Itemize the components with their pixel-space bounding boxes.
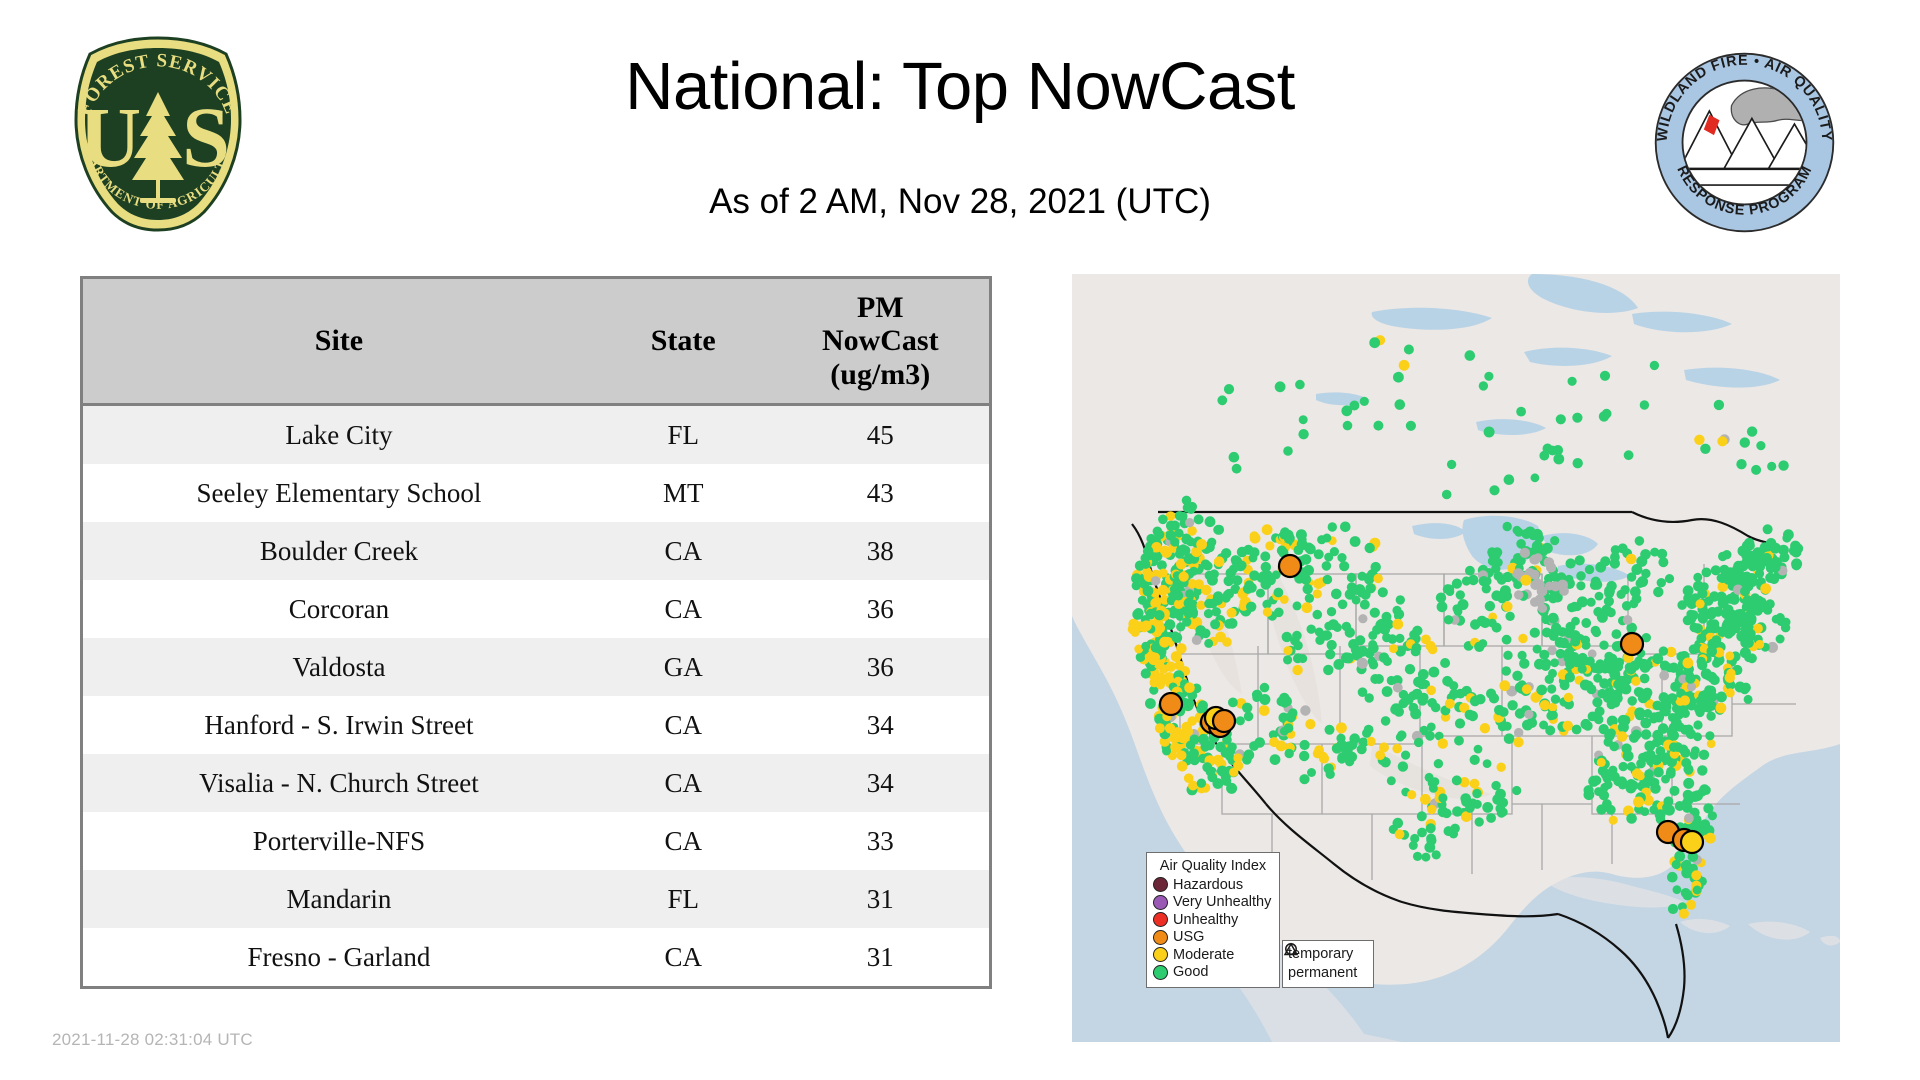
monitor-dot[interactable] (1401, 751, 1410, 760)
monitor-dot[interactable] (1202, 762, 1212, 772)
monitor-dot[interactable] (1313, 610, 1323, 620)
monitor-dot[interactable] (1584, 681, 1593, 690)
monitor-dot[interactable] (1673, 885, 1682, 894)
monitor-dot[interactable] (1283, 655, 1292, 664)
monitor-dot[interactable] (1690, 791, 1701, 802)
monitor-dot[interactable] (1597, 612, 1608, 623)
monitor-dot[interactable] (1783, 529, 1794, 540)
monitor-dot[interactable] (1396, 595, 1405, 604)
monitor-dot[interactable] (1760, 583, 1771, 594)
monitor-dot[interactable] (1653, 735, 1663, 745)
monitor-dot[interactable] (1229, 452, 1240, 463)
monitor-dot[interactable] (1274, 588, 1284, 598)
monitor-dot[interactable] (1778, 460, 1788, 470)
monitor-dot[interactable] (1483, 759, 1492, 768)
monitor-dot[interactable] (1737, 561, 1746, 570)
monitor-dot[interactable] (1693, 720, 1702, 729)
monitor-dot[interactable] (1595, 562, 1606, 573)
monitor-dot[interactable] (1514, 590, 1523, 599)
monitor-dot[interactable] (1699, 750, 1709, 760)
monitor-dot[interactable] (1653, 587, 1663, 597)
monitor-dot[interactable] (1707, 646, 1718, 657)
monitor-dot[interactable] (1442, 490, 1452, 500)
monitor-dot[interactable] (1667, 872, 1678, 883)
monitor-dot[interactable] (1522, 720, 1533, 731)
monitor-dot[interactable] (1793, 543, 1803, 553)
monitor-dot[interactable] (1691, 746, 1700, 755)
monitor-dot[interactable] (1165, 619, 1176, 630)
monitor-dot[interactable] (1213, 778, 1224, 789)
monitor-dot[interactable] (1686, 610, 1695, 619)
monitor-dot[interactable] (1718, 552, 1727, 561)
monitor-dot[interactable] (1263, 607, 1272, 616)
monitor-dot[interactable] (1591, 775, 1601, 785)
monitor-dot[interactable] (1369, 660, 1378, 669)
monitor-dot[interactable] (1685, 673, 1695, 683)
monitor-dot[interactable] (1204, 639, 1213, 648)
monitor-dot[interactable] (1323, 575, 1333, 585)
monitor-dot[interactable] (1673, 742, 1683, 752)
monitor-dot[interactable] (1668, 693, 1678, 703)
monitor-dot[interactable] (1417, 811, 1427, 821)
monitor-dot[interactable] (1572, 413, 1582, 423)
monitor-dot[interactable] (1217, 395, 1227, 405)
monitor-dot[interactable] (1513, 737, 1523, 747)
monitor-dot[interactable] (1284, 533, 1295, 544)
monitor-dot[interactable] (1447, 460, 1456, 469)
monitor-dot[interactable] (1373, 421, 1383, 431)
monitor-dot[interactable] (1307, 625, 1316, 634)
monitor-dot[interactable] (1337, 754, 1346, 763)
monitor-dot[interactable] (1266, 575, 1276, 585)
monitor-dot[interactable] (1595, 592, 1604, 601)
monitor-dot[interactable] (1305, 719, 1315, 729)
monitor-dot[interactable] (1141, 642, 1150, 651)
monitor-dot[interactable] (1393, 372, 1404, 383)
monitor-dot[interactable] (1594, 787, 1603, 796)
monitor-dot[interactable] (1340, 522, 1351, 533)
monitor-dot[interactable] (1488, 619, 1497, 628)
monitor-dot[interactable] (1659, 671, 1669, 681)
monitor-dot[interactable] (1429, 784, 1438, 793)
monitor-dot[interactable] (1660, 661, 1670, 671)
monitor-dot[interactable] (1300, 740, 1310, 750)
monitor-dot[interactable] (1304, 543, 1314, 553)
monitor-dot[interactable] (1442, 676, 1452, 686)
monitor-dot[interactable] (1516, 407, 1526, 417)
monitor-dot[interactable] (1641, 729, 1651, 739)
monitor-dot[interactable] (1747, 426, 1757, 436)
monitor-dot[interactable] (1203, 561, 1212, 570)
monitor-dot[interactable] (1417, 828, 1427, 838)
monitor-dot[interactable] (1410, 834, 1419, 843)
monitor-dot[interactable] (1181, 726, 1192, 737)
monitor-dot[interactable] (1434, 759, 1443, 768)
monitor-dot[interactable] (1751, 465, 1761, 475)
monitor-dot[interactable] (1657, 578, 1666, 587)
monitor-dot[interactable] (1214, 525, 1224, 535)
monitor-dot[interactable] (1426, 686, 1436, 696)
monitor-dot[interactable] (1633, 797, 1644, 808)
monitor-dot[interactable] (1410, 708, 1421, 719)
monitor-dot[interactable] (1548, 593, 1558, 603)
monitor-dot[interactable] (1462, 576, 1471, 585)
monitor-dot[interactable] (1131, 628, 1140, 637)
monitor-dot[interactable] (1375, 750, 1385, 760)
monitor-dot[interactable] (1145, 698, 1156, 709)
monitor-dot[interactable] (1766, 538, 1777, 549)
monitor-dot[interactable] (1362, 729, 1371, 738)
monitor-dot[interactable] (1162, 747, 1171, 756)
monitor-dot[interactable] (1612, 629, 1622, 639)
monitor-dot[interactable] (1395, 399, 1406, 410)
monitor-dot[interactable] (1285, 749, 1294, 758)
monitor-dot[interactable] (1269, 737, 1279, 747)
monitor-dot[interactable] (1379, 652, 1389, 662)
monitor-dot[interactable] (1701, 785, 1711, 795)
monitor-dot[interactable] (1503, 522, 1512, 531)
national-aqi-map[interactable]: Air Quality Index HazardousVery Unhealth… (1072, 274, 1840, 1042)
monitor-dot[interactable] (1369, 337, 1380, 348)
monitor-dot[interactable] (1670, 786, 1680, 796)
monitor-dot[interactable] (1151, 576, 1161, 586)
monitor-dot[interactable] (1716, 692, 1727, 703)
monitor-dot[interactable] (1549, 711, 1558, 720)
monitor-dot[interactable] (1282, 632, 1292, 642)
monitor-dot[interactable] (1626, 783, 1637, 794)
monitor-dot[interactable] (1620, 684, 1629, 693)
monitor-dot[interactable] (1327, 607, 1336, 616)
monitor-dot[interactable] (1187, 505, 1196, 514)
monitor-dot[interactable] (1328, 619, 1339, 630)
monitor-dot[interactable] (1710, 619, 1719, 628)
monitor-dot[interactable] (1606, 805, 1616, 815)
monitor-dot[interactable] (1154, 610, 1164, 620)
monitor-dot[interactable] (1432, 850, 1441, 859)
monitor-dot[interactable] (1286, 713, 1296, 723)
monitor-dot[interactable] (1776, 635, 1785, 644)
monitor-dot[interactable] (1470, 755, 1480, 765)
monitor-dot[interactable] (1600, 371, 1610, 381)
monitor-dot[interactable] (1762, 553, 1772, 563)
monitor-dot[interactable] (1627, 696, 1637, 706)
monitor-dot[interactable] (1246, 602, 1256, 612)
monitor-dot[interactable] (1184, 773, 1194, 783)
monitor-dot[interactable] (1682, 860, 1691, 869)
monitor-dot[interactable] (1436, 593, 1446, 603)
monitor-dot[interactable] (1512, 786, 1521, 795)
monitor-dot[interactable] (1479, 381, 1488, 390)
monitor-dot[interactable] (1454, 736, 1464, 746)
monitor-dot[interactable] (1518, 634, 1527, 643)
monitor-dot[interactable] (1259, 705, 1270, 716)
monitor-dot[interactable] (1396, 733, 1405, 742)
monitor-dot[interactable] (1550, 536, 1559, 545)
monitor-dot[interactable] (1299, 751, 1309, 761)
monitor-dot[interactable] (1210, 619, 1220, 629)
monitor-dot[interactable] (1575, 555, 1585, 565)
monitor-dot[interactable] (1744, 538, 1755, 549)
monitor-dot[interactable] (1723, 575, 1733, 585)
monitor-dot[interactable] (1321, 630, 1331, 640)
monitor-dot[interactable] (1407, 790, 1416, 799)
monitor-dot[interactable] (1295, 380, 1305, 390)
monitor-dot[interactable] (1607, 728, 1616, 737)
monitor-dot[interactable] (1704, 672, 1713, 681)
monitor-dot[interactable] (1706, 712, 1715, 721)
monitor-dot[interactable] (1719, 565, 1729, 575)
monitor-dot[interactable] (1639, 659, 1650, 670)
monitor-dot[interactable] (1494, 571, 1503, 580)
monitor-dot[interactable] (1382, 686, 1393, 697)
monitor-dot[interactable] (1159, 664, 1168, 673)
monitor-dot[interactable] (1641, 691, 1651, 701)
monitor-dot[interactable] (1744, 695, 1753, 704)
top-site-marker[interactable] (1621, 633, 1643, 655)
monitor-dot[interactable] (1398, 761, 1408, 771)
monitor-dot[interactable] (1666, 767, 1676, 777)
monitor-dot[interactable] (1740, 586, 1750, 596)
monitor-dot[interactable] (1156, 680, 1165, 689)
monitor-dot[interactable] (1627, 572, 1636, 581)
monitor-dot[interactable] (1564, 654, 1573, 663)
monitor-dot[interactable] (1629, 599, 1638, 608)
monitor-dot[interactable] (1237, 561, 1246, 570)
monitor-dot[interactable] (1636, 759, 1646, 769)
monitor-dot[interactable] (1782, 618, 1791, 627)
monitor-dot[interactable] (1694, 435, 1704, 445)
monitor-dot[interactable] (1581, 719, 1592, 730)
monitor-dot[interactable] (1504, 474, 1515, 485)
monitor-dot[interactable] (1425, 773, 1434, 782)
monitor-dot[interactable] (1474, 745, 1483, 754)
monitor-dot[interactable] (1472, 789, 1481, 798)
monitor-dot[interactable] (1630, 586, 1641, 597)
monitor-dot[interactable] (1217, 766, 1228, 777)
monitor-dot[interactable] (1714, 400, 1724, 410)
monitor-dot[interactable] (1702, 568, 1712, 578)
monitor-dot[interactable] (1132, 581, 1141, 590)
monitor-dot[interactable] (1188, 607, 1198, 617)
monitor-dot[interactable] (1497, 763, 1506, 772)
monitor-dot[interactable] (1683, 778, 1694, 789)
monitor-dot[interactable] (1425, 731, 1435, 741)
monitor-dot[interactable] (1502, 635, 1512, 645)
monitor-dot[interactable] (1725, 651, 1734, 660)
monitor-dot[interactable] (1337, 741, 1347, 751)
monitor-dot[interactable] (1545, 725, 1555, 735)
monitor-dot[interactable] (1345, 627, 1355, 637)
monitor-dot[interactable] (1650, 361, 1659, 370)
monitor-dot[interactable] (1138, 596, 1147, 605)
monitor-dot[interactable] (1507, 700, 1517, 710)
monitor-dot[interactable] (1518, 651, 1527, 660)
monitor-dot[interactable] (1336, 722, 1347, 733)
monitor-dot[interactable] (1484, 427, 1495, 438)
monitor-dot[interactable] (1539, 451, 1549, 461)
monitor-dot[interactable] (1438, 738, 1448, 748)
monitor-dot[interactable] (1280, 727, 1289, 736)
monitor-dot[interactable] (1520, 548, 1530, 558)
monitor-dot[interactable] (1213, 595, 1224, 606)
monitor-dot[interactable] (1489, 485, 1499, 495)
monitor-dot[interactable] (1357, 658, 1368, 669)
monitor-dot[interactable] (1224, 384, 1234, 394)
monitor-dot[interactable] (1594, 664, 1604, 674)
monitor-dot[interactable] (1141, 668, 1151, 678)
monitor-dot[interactable] (1535, 595, 1545, 605)
monitor-dot[interactable] (1631, 730, 1641, 740)
monitor-dot[interactable] (1357, 589, 1366, 598)
monitor-dot[interactable] (1181, 534, 1192, 545)
monitor-dot[interactable] (1420, 794, 1431, 805)
monitor-dot[interactable] (1635, 536, 1645, 546)
monitor-dot[interactable] (1711, 565, 1721, 575)
monitor-dot[interactable] (1763, 524, 1773, 534)
monitor-dot[interactable] (1132, 609, 1143, 620)
monitor-dot[interactable] (1303, 584, 1313, 594)
monitor-dot[interactable] (1624, 450, 1634, 460)
monitor-dot[interactable] (1184, 698, 1195, 709)
monitor-dot[interactable] (1519, 658, 1529, 668)
monitor-dot[interactable] (1598, 689, 1608, 699)
monitor-dot[interactable] (1437, 601, 1448, 612)
monitor-dot[interactable] (1653, 701, 1663, 711)
monitor-dot[interactable] (1337, 553, 1346, 562)
monitor-dot[interactable] (1503, 651, 1512, 660)
monitor-dot[interactable] (1640, 674, 1650, 684)
monitor-dot[interactable] (1689, 644, 1699, 654)
monitor-dot[interactable] (1501, 666, 1511, 676)
monitor-dot[interactable] (1570, 637, 1580, 647)
monitor-dot[interactable] (1185, 589, 1194, 598)
monitor-dot[interactable] (1591, 626, 1601, 636)
monitor-dot[interactable] (1293, 654, 1302, 663)
monitor-dot[interactable] (1610, 772, 1620, 782)
monitor-dot[interactable] (1537, 685, 1548, 696)
monitor-dot[interactable] (1455, 718, 1465, 728)
monitor-dot[interactable] (1514, 728, 1523, 737)
monitor-dot[interactable] (1358, 614, 1367, 623)
monitor-dot[interactable] (1700, 582, 1709, 591)
monitor-dot[interactable] (1404, 345, 1414, 355)
monitor-dot[interactable] (1151, 643, 1161, 653)
monitor-dot[interactable] (1698, 613, 1708, 623)
monitor-dot[interactable] (1190, 755, 1200, 765)
monitor-dot[interactable] (1236, 716, 1245, 725)
monitor-dot[interactable] (1626, 664, 1637, 675)
monitor-dot[interactable] (1323, 665, 1333, 675)
monitor-dot[interactable] (1679, 909, 1689, 919)
monitor-dot[interactable] (1703, 803, 1713, 813)
monitor-dot[interactable] (1331, 589, 1342, 600)
monitor-dot[interactable] (1559, 638, 1569, 648)
monitor-dot[interactable] (1486, 689, 1496, 699)
monitor-dot[interactable] (1627, 762, 1636, 771)
monitor-dot[interactable] (1585, 657, 1594, 666)
monitor-dot[interactable] (1244, 712, 1254, 722)
monitor-dot[interactable] (1486, 813, 1496, 823)
monitor-dot[interactable] (1349, 733, 1360, 744)
monitor-dot[interactable] (1571, 617, 1580, 626)
monitor-dot[interactable] (1456, 590, 1465, 599)
monitor-dot[interactable] (1530, 628, 1540, 638)
monitor-dot[interactable] (1325, 725, 1335, 735)
monitor-dot[interactable] (1697, 765, 1707, 775)
monitor-dot[interactable] (1141, 560, 1150, 569)
monitor-dot[interactable] (1498, 594, 1507, 603)
monitor-dot[interactable] (1427, 805, 1436, 814)
monitor-dot[interactable] (1375, 620, 1386, 631)
monitor-dot[interactable] (1751, 600, 1761, 610)
monitor-dot[interactable] (1641, 569, 1650, 578)
monitor-dot[interactable] (1492, 547, 1502, 557)
monitor-dot[interactable] (1454, 607, 1463, 616)
monitor-dot[interactable] (1196, 539, 1207, 550)
monitor-dot[interactable] (1170, 537, 1179, 546)
monitor-dot[interactable] (1548, 613, 1559, 624)
monitor-dot[interactable] (1681, 758, 1691, 768)
monitor-dot[interactable] (1573, 602, 1582, 611)
monitor-dot[interactable] (1179, 512, 1188, 521)
monitor-dot[interactable] (1592, 580, 1602, 590)
monitor-dot[interactable] (1252, 690, 1262, 700)
monitor-dot[interactable] (1530, 554, 1540, 564)
monitor-dot[interactable] (1249, 554, 1258, 563)
monitor-dot[interactable] (1227, 608, 1237, 618)
monitor-dot[interactable] (1606, 581, 1616, 591)
monitor-dot[interactable] (1261, 562, 1271, 572)
monitor-dot[interactable] (1726, 688, 1735, 697)
monitor-dot[interactable] (1260, 551, 1270, 561)
monitor-dot[interactable] (1449, 829, 1458, 838)
monitor-dot[interactable] (1485, 601, 1495, 611)
monitor-dot[interactable] (1585, 565, 1594, 574)
monitor-dot[interactable] (1465, 710, 1475, 720)
monitor-dot[interactable] (1431, 703, 1441, 713)
monitor-dot[interactable] (1738, 631, 1748, 641)
monitor-dot[interactable] (1534, 580, 1545, 591)
monitor-dot[interactable] (1522, 684, 1532, 694)
top-site-marker[interactable] (1279, 555, 1301, 577)
monitor-dot[interactable] (1452, 806, 1462, 816)
monitor-dot[interactable] (1494, 705, 1504, 715)
monitor-dot[interactable] (1663, 796, 1673, 806)
monitor-dot[interactable] (1611, 699, 1620, 708)
monitor-dot[interactable] (1740, 437, 1750, 447)
monitor-dot[interactable] (1576, 581, 1585, 590)
monitor-dot[interactable] (1237, 547, 1248, 558)
monitor-dot[interactable] (1184, 682, 1195, 693)
monitor-dot[interactable] (1498, 722, 1507, 731)
monitor-dot[interactable] (1324, 763, 1334, 773)
monitor-dot[interactable] (1328, 522, 1337, 531)
monitor-dot[interactable] (1716, 592, 1727, 603)
monitor-dot[interactable] (1474, 642, 1484, 652)
monitor-dot[interactable] (1322, 561, 1332, 571)
monitor-dot[interactable] (1322, 534, 1331, 543)
monitor-dot[interactable] (1566, 558, 1576, 568)
monitor-dot[interactable] (1382, 633, 1391, 642)
monitor-dot[interactable] (1204, 599, 1214, 609)
monitor-dot[interactable] (1548, 669, 1557, 678)
monitor-dot[interactable] (1505, 612, 1514, 621)
monitor-dot[interactable] (1740, 647, 1751, 658)
monitor-dot[interactable] (1389, 644, 1398, 653)
monitor-dot[interactable] (1475, 694, 1485, 704)
monitor-dot[interactable] (1196, 705, 1205, 714)
monitor-dot[interactable] (1364, 648, 1374, 658)
